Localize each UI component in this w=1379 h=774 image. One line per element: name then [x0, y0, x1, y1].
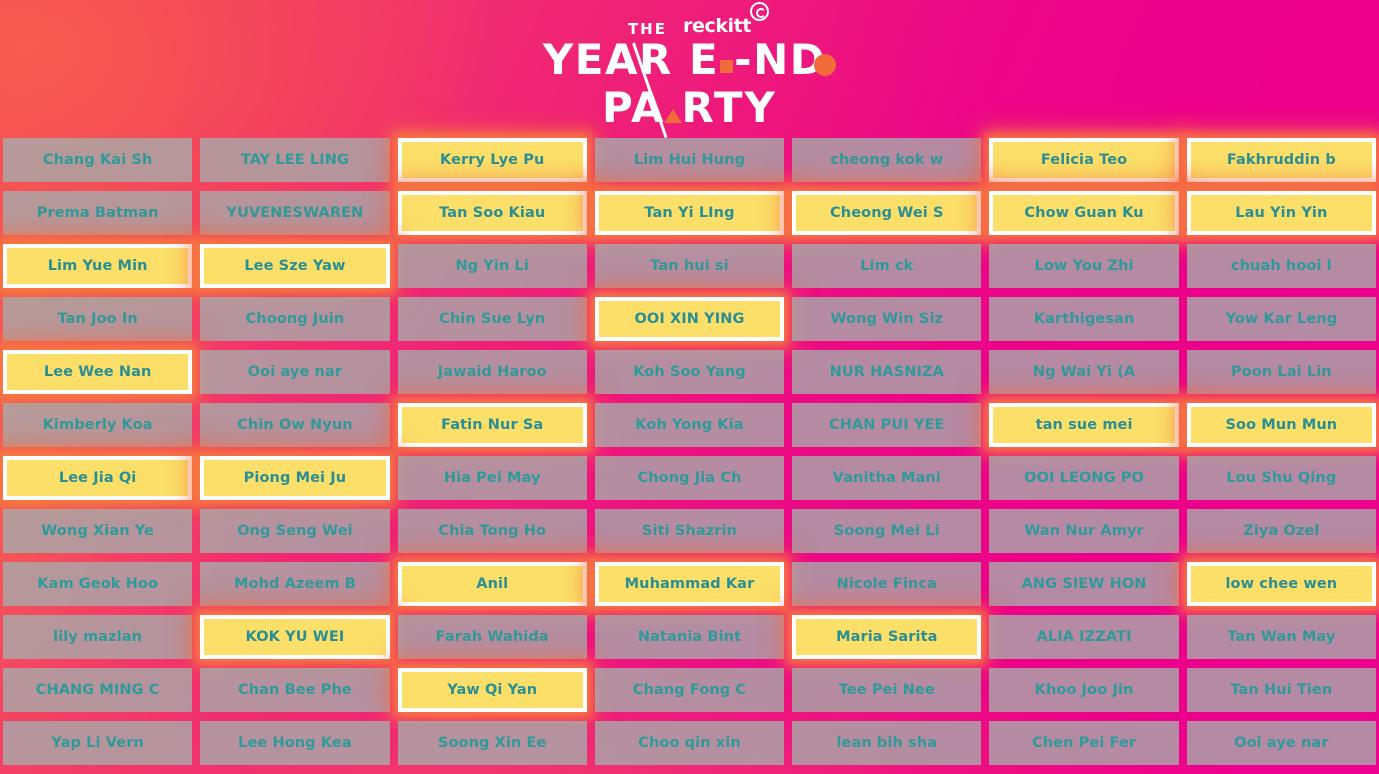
- winner-name-card[interactable]: low chee wen: [1187, 562, 1376, 606]
- grid-cell: Lee Hong Kea: [200, 721, 389, 765]
- grid-cell: Vanitha Mani: [792, 456, 981, 500]
- grid-cell: Siti Shazrin: [595, 509, 784, 553]
- participant-name-card[interactable]: Natania Bint: [595, 615, 784, 659]
- winner-name-card[interactable]: Yaw Qi Yan: [398, 668, 587, 712]
- participant-name-card[interactable]: Karthigesan: [989, 297, 1178, 341]
- participant-name-card[interactable]: Khoo Joo Jin: [989, 668, 1178, 712]
- grid-cell: Chang Fong C: [595, 668, 784, 712]
- participant-name-card[interactable]: Vanitha Mani: [792, 456, 981, 500]
- grid-cell: ANG SIEW HON: [989, 562, 1178, 606]
- participant-name-card[interactable]: Yap Li Vern: [3, 721, 192, 765]
- grid-cell: Fakhruddin b: [1187, 138, 1376, 182]
- grid-cell: lily mazlan: [3, 615, 192, 659]
- participant-name-card[interactable]: Ooi aye nar: [1187, 721, 1376, 765]
- winner-name-card[interactable]: Fatin Nur Sa: [398, 403, 587, 447]
- grid-cell: Fatin Nur Sa: [398, 403, 587, 447]
- logo-rty-text: RTY: [681, 83, 777, 132]
- participant-name-card[interactable]: Prema Batman: [3, 191, 192, 235]
- winner-name-card[interactable]: Lau Yin Yin: [1187, 191, 1376, 235]
- winner-name-card[interactable]: Felicia Teo: [989, 138, 1178, 182]
- grid-cell: Chin Ow Nyun: [200, 403, 389, 447]
- winner-name-card[interactable]: KOK YU WEI: [200, 615, 389, 659]
- winner-name-card[interactable]: Muhammad Kar: [595, 562, 784, 606]
- page-header: THE reckitt YEAR E-ND PARTY: [0, 0, 1379, 136]
- logo-title: YEAR E-ND PARTY: [540, 39, 840, 129]
- grid-cell: CHAN PUI YEE: [792, 403, 981, 447]
- grid-cell: CHANG MING C: [3, 668, 192, 712]
- grid-cell: Ziya Ozel: [1187, 509, 1376, 553]
- participant-name-card[interactable]: Chia Tong Ho: [398, 509, 587, 553]
- grid-cell: Anil: [398, 562, 587, 606]
- grid-cell: Chang Kai Sh: [3, 138, 192, 182]
- winner-name-card[interactable]: Lee Wee Nan: [3, 350, 192, 394]
- participant-name-card[interactable]: Mohd Azeem B: [200, 562, 389, 606]
- grid-cell: KOK YU WEI: [200, 615, 389, 659]
- logo-brand-row: THE reckitt: [540, 17, 840, 37]
- participant-name-card[interactable]: Koh Soo Yang: [595, 350, 784, 394]
- grid-cell: Chong Jia Ch: [595, 456, 784, 500]
- grid-cell: Tan Hui Tien: [1187, 668, 1376, 712]
- grid-cell: Mohd Azeem B: [200, 562, 389, 606]
- grid-cell: Lim Hui Hung: [595, 138, 784, 182]
- grid-cell: Ooi aye nar: [200, 350, 389, 394]
- grid-cell: Lou Shu Qing: [1187, 456, 1376, 500]
- grid-cell: TAY LEE LING: [200, 138, 389, 182]
- grid-cell: Kimberly Koa: [3, 403, 192, 447]
- participant-name-card[interactable]: Lou Shu Qing: [1187, 456, 1376, 500]
- grid-cell: Karthigesan: [989, 297, 1178, 341]
- participant-name-card[interactable]: Tan Hui Tien: [1187, 668, 1376, 712]
- grid-cell: Choong Juin: [200, 297, 389, 341]
- participant-name-card[interactable]: lean bih sha: [792, 721, 981, 765]
- grid-cell: Lau Yin Yin: [1187, 191, 1376, 235]
- participant-name-card[interactable]: Chin Sue Lyn: [398, 297, 587, 341]
- winner-name-card[interactable]: Soo Mun Mun: [1187, 403, 1376, 447]
- logo-the-label: THE: [628, 17, 667, 37]
- grid-cell: Felicia Teo: [989, 138, 1178, 182]
- grid-cell: YUVENESWAREN: [200, 191, 389, 235]
- grid-cell: Chan Bee Phe: [200, 668, 389, 712]
- participant-name-card[interactable]: ALIA IZZATI: [989, 615, 1178, 659]
- participant-name-card[interactable]: Wan Nur Amyr: [989, 509, 1178, 553]
- participant-name-card[interactable]: Nicole Finca: [792, 562, 981, 606]
- grid-cell: Kerry Lye Pu: [398, 138, 587, 182]
- participant-name-card[interactable]: Tan hui si: [595, 244, 784, 288]
- logo-e-text: E: [689, 35, 719, 84]
- grid-cell: OOI XIN YING: [595, 297, 784, 341]
- grid-cell: Farah Wahida: [398, 615, 587, 659]
- grid-cell: Lee Wee Nan: [3, 350, 192, 394]
- winner-name-card[interactable]: Lim Yue Min: [3, 244, 192, 288]
- grid-cell: Chow Guan Ku: [989, 191, 1178, 235]
- grid-cell: Khoo Joo Jin: [989, 668, 1178, 712]
- grid-cell: Lee Jia Qi: [3, 456, 192, 500]
- grid-cell: Wong Xian Ye: [3, 509, 192, 553]
- grid-cell: Tan Wan May: [1187, 615, 1376, 659]
- participant-name-card[interactable]: Chin Ow Nyun: [200, 403, 389, 447]
- grid-cell: Ng Wai Yi (A: [989, 350, 1178, 394]
- participant-name-card[interactable]: Chang Kai Sh: [3, 138, 192, 182]
- grid-cell: Tan Yi LIng: [595, 191, 784, 235]
- participant-name-card[interactable]: Jawaid Haroo: [398, 350, 587, 394]
- winner-name-card[interactable]: Maria Sarita: [792, 615, 981, 659]
- grid-cell: Soong Mei Li: [792, 509, 981, 553]
- participant-name-card[interactable]: Tan Wan May: [1187, 615, 1376, 659]
- participant-name-card[interactable]: Farah Wahida: [398, 615, 587, 659]
- grid-cell: Chen Pei Fer: [989, 721, 1178, 765]
- logo-nd-text: -N: [734, 35, 790, 84]
- winner-name-card[interactable]: Fakhruddin b: [1187, 138, 1376, 182]
- grid-cell: Muhammad Kar: [595, 562, 784, 606]
- grid-cell: Soo Mun Mun: [1187, 403, 1376, 447]
- grid-cell: Ooi aye nar: [1187, 721, 1376, 765]
- grid-cell: Lim Yue Min: [3, 244, 192, 288]
- participant-name-card[interactable]: Chan Bee Phe: [200, 668, 389, 712]
- logo-p-text: P: [602, 83, 631, 132]
- participant-name-card[interactable]: Lee Hong Kea: [200, 721, 389, 765]
- grid-cell: Ng Yin Li: [398, 244, 587, 288]
- grid-cell: Soong Xin Ee: [398, 721, 587, 765]
- grid-cell: Tee Pei Nee: [792, 668, 981, 712]
- grid-cell: Nicole Finca: [792, 562, 981, 606]
- winner-name-card[interactable]: Lee Sze Yaw: [200, 244, 389, 288]
- winner-name-card[interactable]: Tan Yi LIng: [595, 191, 784, 235]
- grid-cell: lean bih sha: [792, 721, 981, 765]
- grid-cell: NUR HASNIZA: [792, 350, 981, 394]
- participant-name-card[interactable]: NUR HASNIZA: [792, 350, 981, 394]
- grid-cell: Choo qin xin: [595, 721, 784, 765]
- grid-cell: Yap Li Vern: [3, 721, 192, 765]
- participant-name-card[interactable]: Poon Lai Lin: [1187, 350, 1376, 394]
- orange-circle-accent-icon: [814, 54, 836, 76]
- year-end-party-logo: THE reckitt YEAR E-ND PARTY: [540, 11, 840, 129]
- participant-name-card[interactable]: ANG SIEW HON: [989, 562, 1178, 606]
- participant-name-card[interactable]: Chen Pei Fer: [989, 721, 1178, 765]
- winner-name-card[interactable]: tan sue mei: [989, 403, 1178, 447]
- participant-name-card[interactable]: YUVENESWAREN: [200, 191, 389, 235]
- participant-name-card[interactable]: Choong Juin: [200, 297, 389, 341]
- participant-name-card[interactable]: chuah hooi l: [1187, 244, 1376, 288]
- participant-name-card[interactable]: Siti Shazrin: [595, 509, 784, 553]
- participant-name-card[interactable]: cheong kok w: [792, 138, 981, 182]
- winner-name-card[interactable]: Piong Mei Ju: [200, 456, 389, 500]
- grid-cell: ALIA IZZATI: [989, 615, 1178, 659]
- participant-name-card[interactable]: Kimberly Koa: [3, 403, 192, 447]
- grid-cell: Koh Yong Kia: [595, 403, 784, 447]
- participant-name-card[interactable]: Soong Xin Ee: [398, 721, 587, 765]
- winner-name-card[interactable]: Kerry Lye Pu: [398, 138, 587, 182]
- participant-name-card[interactable]: Wong Xian Ye: [3, 509, 192, 553]
- winner-name-card[interactable]: OOI XIN YING: [595, 297, 784, 341]
- participant-name-card[interactable]: Koh Yong Kia: [595, 403, 784, 447]
- participant-name-grid: Chang Kai ShTAY LEE LINGKerry Lye PuLim …: [3, 138, 1376, 765]
- grid-cell: low chee wen: [1187, 562, 1376, 606]
- participant-name-card[interactable]: Ng Wai Yi (A: [989, 350, 1178, 394]
- grid-cell: chuah hooi l: [1187, 244, 1376, 288]
- grid-cell: Tan hui si: [595, 244, 784, 288]
- grid-cell: Cheong Wei S: [792, 191, 981, 235]
- grid-cell: Wan Nur Amyr: [989, 509, 1178, 553]
- grid-cell: Prema Batman: [3, 191, 192, 235]
- grid-cell: OOI LEONG PO: [989, 456, 1178, 500]
- grid-cell: Natania Bint: [595, 615, 784, 659]
- participant-name-card[interactable]: lily mazlan: [3, 615, 192, 659]
- grid-cell: Poon Lai Lin: [1187, 350, 1376, 394]
- orange-square-accent-icon: [720, 60, 733, 73]
- grid-cell: Wong Win Siz: [792, 297, 981, 341]
- reckitt-wordmark: reckitt: [683, 17, 751, 36]
- logo-title-line-1: YEAR E-ND: [540, 39, 840, 81]
- participant-name-card[interactable]: Ng Yin Li: [398, 244, 587, 288]
- grid-cell: Lee Sze Yaw: [200, 244, 389, 288]
- grid-cell: Yow Kar Leng: [1187, 297, 1376, 341]
- winner-name-card[interactable]: Lee Jia Qi: [3, 456, 192, 500]
- grid-cell: cheong kok w: [792, 138, 981, 182]
- grid-cell: Lim ck: [792, 244, 981, 288]
- grid-cell: Piong Mei Ju: [200, 456, 389, 500]
- participant-name-card[interactable]: Chang Fong C: [595, 668, 784, 712]
- grid-cell: Tan Soo Kiau: [398, 191, 587, 235]
- grid-cell: Koh Soo Yang: [595, 350, 784, 394]
- winner-name-card[interactable]: Tan Soo Kiau: [398, 191, 587, 235]
- grid-cell: Chin Sue Lyn: [398, 297, 587, 341]
- participant-name-card[interactable]: Yow Kar Leng: [1187, 297, 1376, 341]
- participant-name-card[interactable]: Lim ck: [792, 244, 981, 288]
- grid-cell: Low You Zhi: [989, 244, 1178, 288]
- grid-cell: Hia Pei May: [398, 456, 587, 500]
- grid-cell: Chia Tong Ho: [398, 509, 587, 553]
- grid-cell: Jawaid Haroo: [398, 350, 587, 394]
- year-end-party-lucky-draw-board: THE reckitt YEAR E-ND PARTY Chang Kai Sh…: [0, 0, 1379, 774]
- grid-cell: Kam Geok Hoo: [3, 562, 192, 606]
- participant-name-card[interactable]: Hia Pei May: [398, 456, 587, 500]
- participant-name-card[interactable]: Wong Win Siz: [792, 297, 981, 341]
- reckitt-swirl-icon: [750, 2, 769, 21]
- logo-reckitt-label: reckitt: [683, 13, 751, 37]
- winner-name-card[interactable]: Anil: [398, 562, 587, 606]
- participant-name-card[interactable]: OOI LEONG PO: [989, 456, 1178, 500]
- logo-year-text: YEAR: [543, 35, 689, 84]
- logo-title-line-2: PARTY: [540, 87, 840, 129]
- participant-name-card[interactable]: Ooi aye nar: [200, 350, 389, 394]
- participant-name-card[interactable]: Soong Mei Li: [792, 509, 981, 553]
- participant-name-card[interactable]: Kam Geok Hoo: [3, 562, 192, 606]
- grid-cell: Ong Seng Wei: [200, 509, 389, 553]
- participant-name-card[interactable]: Tan Joo In: [3, 297, 192, 341]
- participant-name-card[interactable]: Chong Jia Ch: [595, 456, 784, 500]
- participant-name-card[interactable]: Ong Seng Wei: [200, 509, 389, 553]
- grid-cell: tan sue mei: [989, 403, 1178, 447]
- orange-triangle-accent-icon: [664, 109, 682, 123]
- participant-name-card[interactable]: Low You Zhi: [989, 244, 1178, 288]
- grid-cell: Tan Joo In: [3, 297, 192, 341]
- winner-name-card[interactable]: Chow Guan Ku: [989, 191, 1178, 235]
- participant-name-card[interactable]: CHAN PUI YEE: [792, 403, 981, 447]
- participant-name-card[interactable]: Lim Hui Hung: [595, 138, 784, 182]
- participant-name-card[interactable]: Ziya Ozel: [1187, 509, 1376, 553]
- participant-name-card[interactable]: Tee Pei Nee: [792, 668, 981, 712]
- grid-cell: Yaw Qi Yan: [398, 668, 587, 712]
- participant-name-card[interactable]: Choo qin xin: [595, 721, 784, 765]
- grid-cell: Maria Sarita: [792, 615, 981, 659]
- winner-name-card[interactable]: Cheong Wei S: [792, 191, 981, 235]
- participant-name-card[interactable]: TAY LEE LING: [200, 138, 389, 182]
- participant-name-card[interactable]: CHANG MING C: [3, 668, 192, 712]
